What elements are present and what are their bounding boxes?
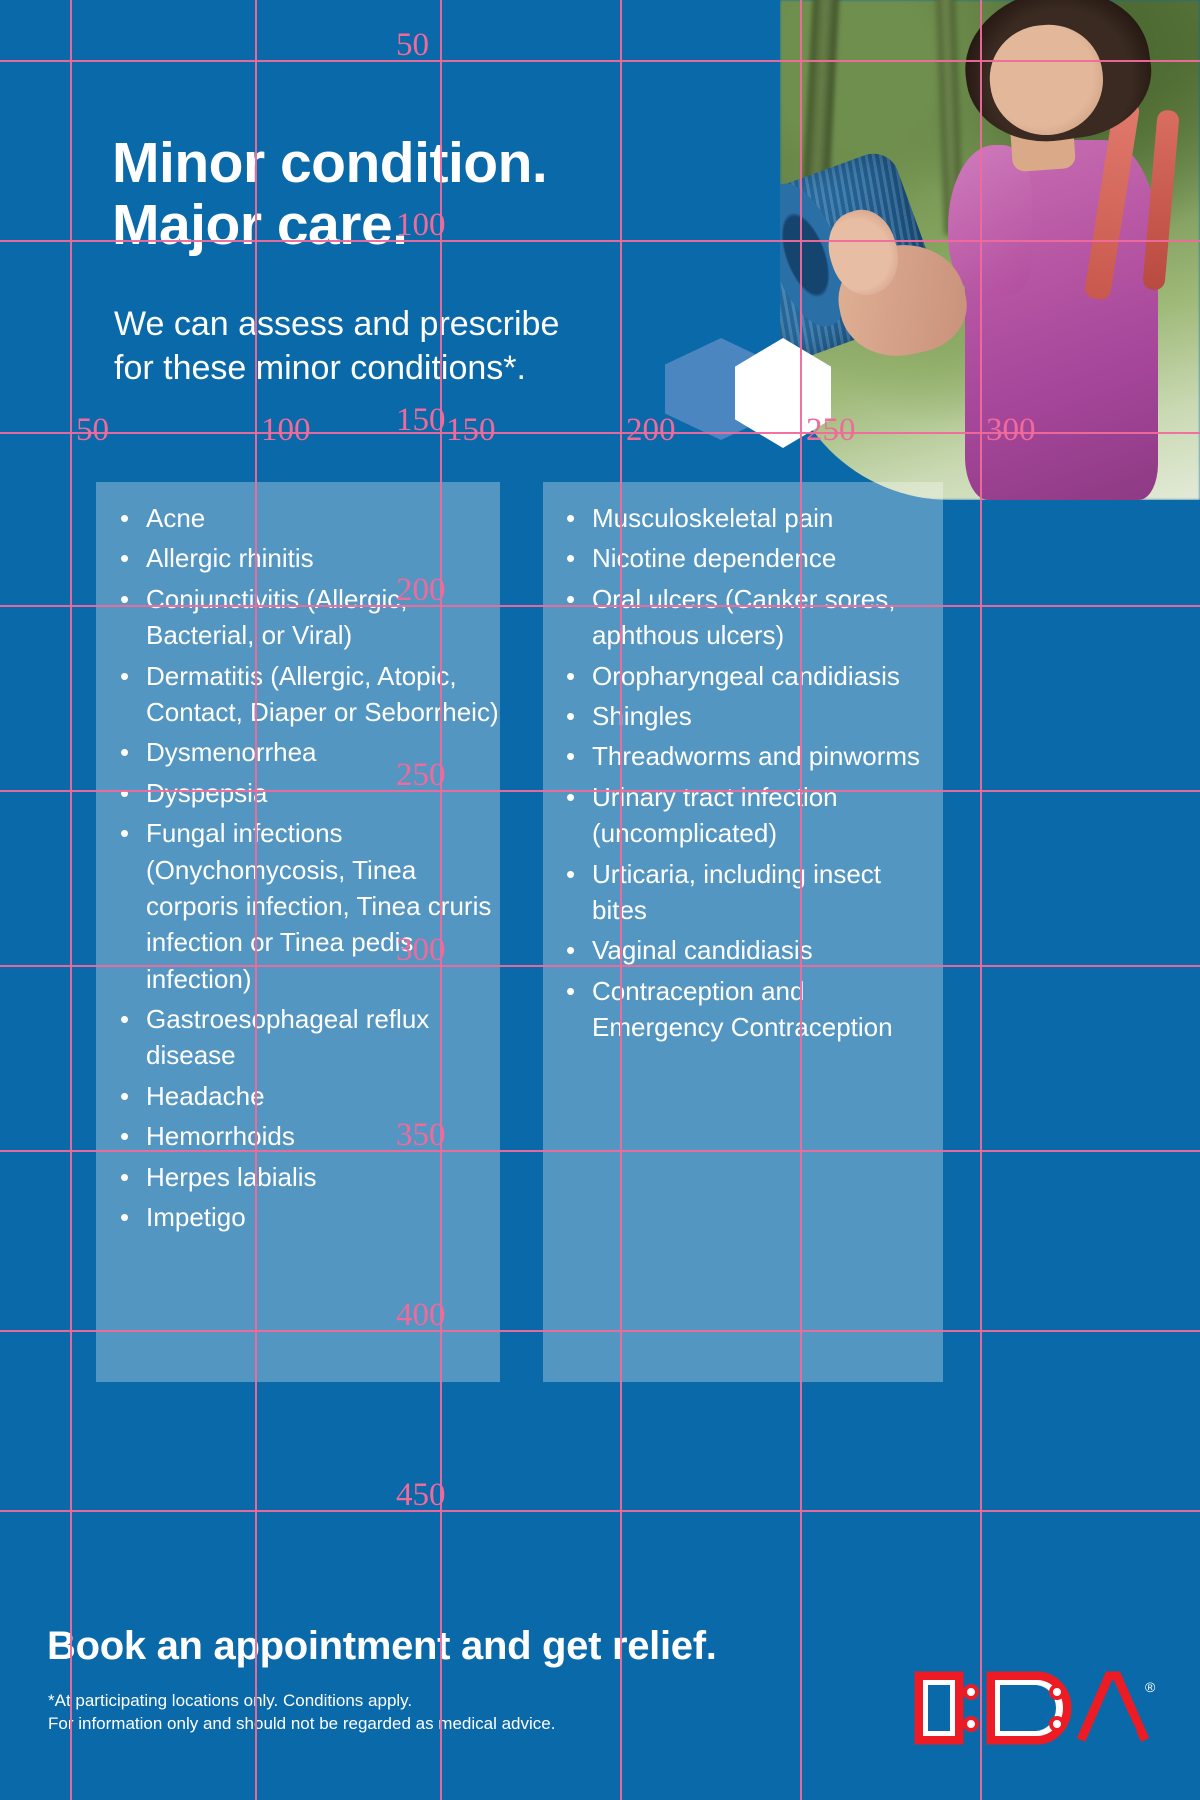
condition-list-item: Oropharyngeal candidiasis xyxy=(566,658,936,694)
grid-line-vertical xyxy=(70,0,72,1800)
hero-photo xyxy=(780,0,1200,500)
conditions-list-right: Musculoskeletal painNicotine dependenceO… xyxy=(566,500,936,1049)
condition-list-item: Acne xyxy=(120,500,500,536)
condition-list-item: Musculoskeletal pain xyxy=(566,500,936,536)
condition-list-item: Allergic rhinitis xyxy=(120,540,500,576)
cta-text: Book an appointment and get relief. xyxy=(47,1624,807,1669)
conditions-list-left: AcneAllergic rhinitisConjunctivitis (All… xyxy=(120,500,500,1239)
headline-line-1: Minor condition. xyxy=(112,131,547,195)
condition-list-item: Threadworms and pinworms xyxy=(566,738,936,774)
condition-list-item: Dysmenorrhea xyxy=(120,734,500,770)
grid-label-x: 150 xyxy=(446,412,496,449)
headline-line-2: Major care. xyxy=(112,195,732,257)
ida-logo-icon: ® xyxy=(905,1662,1165,1754)
disclaimer-line-1: *At participating locations only. Condit… xyxy=(48,1690,748,1713)
condition-list-item: Dermatitis (Allergic, Atopic, Contact, D… xyxy=(120,658,500,731)
condition-list-item: Vaginal candidiasis xyxy=(566,932,936,968)
poster-canvas: Minor condition. Major care. We can asse… xyxy=(0,0,1200,1800)
condition-list-item: Oral ulcers (Canker sores, aphthous ulce… xyxy=(566,581,936,654)
condition-list-item: Contraception and Emergency Contraceptio… xyxy=(566,973,936,1046)
ida-logo: ® xyxy=(905,1662,1165,1754)
grid-label-y: 50 xyxy=(396,27,429,64)
subheading: We can assess and prescribe for these mi… xyxy=(114,303,674,390)
condition-list-item: Fungal infections (Onychomycosis, Tinea … xyxy=(120,815,500,997)
condition-list-item: Hemorrhoids xyxy=(120,1118,500,1154)
grid-label-x: 200 xyxy=(626,412,676,449)
grid-label-x: 50 xyxy=(76,412,109,449)
grid-label-y: 150 xyxy=(396,402,446,439)
disclaimer-line-2: For information only and should not be r… xyxy=(48,1713,748,1736)
condition-list-item: Conjunctivitis (Allergic, Bacterial, or … xyxy=(120,581,500,654)
condition-list-item: Headache xyxy=(120,1078,500,1114)
grid-label-y: 450 xyxy=(396,1477,446,1514)
condition-list-item: Shingles xyxy=(566,698,936,734)
subheading-line-2: for these minor conditions*. xyxy=(114,349,526,387)
condition-list-item: Gastroesophageal reflux disease xyxy=(120,1001,500,1074)
condition-list-item: Impetigo xyxy=(120,1199,500,1235)
condition-list-item: Dyspepsia xyxy=(120,775,500,811)
grid-line-horizontal xyxy=(0,1510,1200,1512)
disclaimer: *At participating locations only. Condit… xyxy=(48,1690,748,1736)
condition-list-item: Nicotine dependence xyxy=(566,540,936,576)
trademark-symbol: ® xyxy=(1145,1679,1156,1695)
condition-list-item: Herpes labialis xyxy=(120,1159,500,1195)
condition-list-item: Urinary tract infection (uncomplicated) xyxy=(566,779,936,852)
subheading-line-1: We can assess and prescribe xyxy=(114,305,559,343)
grid-label-x: 100 xyxy=(261,412,311,449)
page-title: Minor condition. Major care. xyxy=(112,133,732,256)
condition-list-item: Urticaria, including insect bites xyxy=(566,856,936,929)
